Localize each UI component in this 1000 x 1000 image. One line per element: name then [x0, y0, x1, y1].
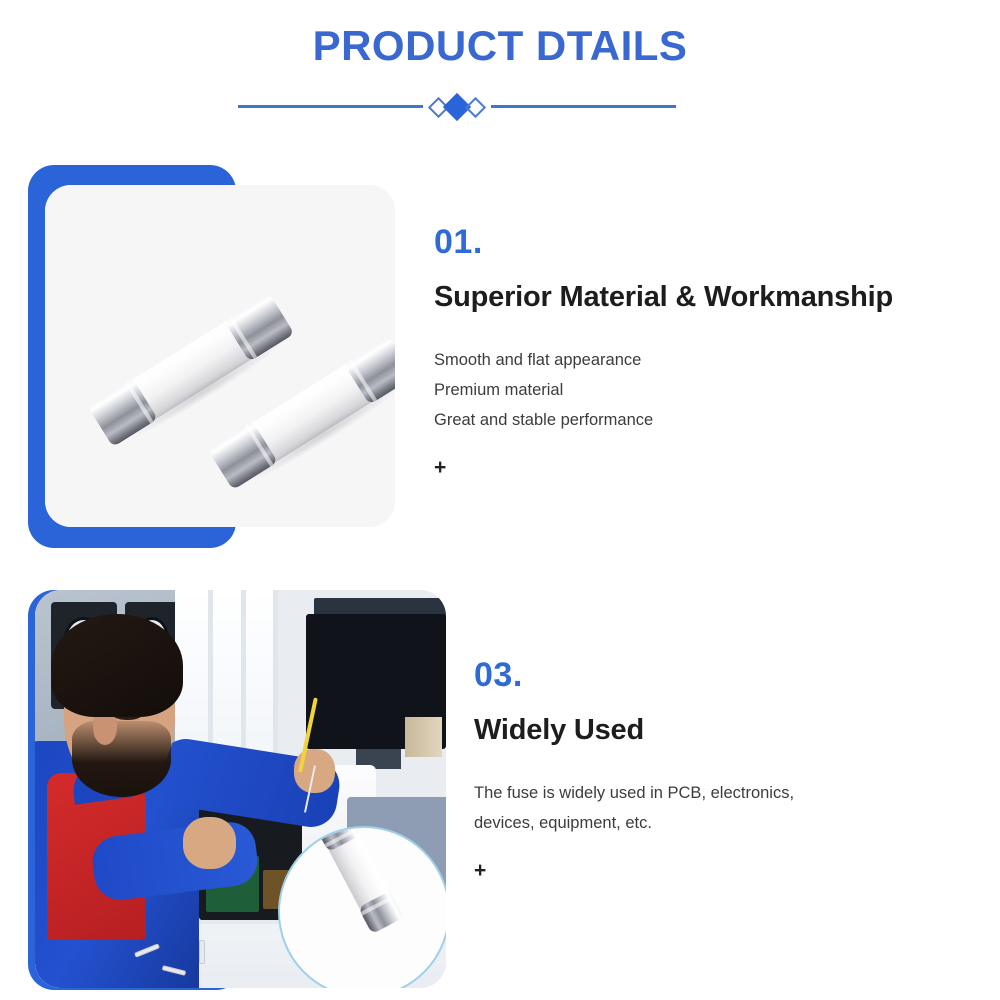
feature-1-heading: Superior Material & Workmanship	[434, 281, 974, 313]
feature-1-body-line: Great and stable performance	[434, 405, 974, 435]
feature-2-body: The fuse is widely used in PCB, electron…	[474, 778, 974, 838]
feature-block-1: 01. Superior Material & Workmanship Smoo…	[0, 155, 1000, 555]
divider-line-right	[491, 105, 676, 108]
feature-1-expand-button[interactable]: +	[434, 457, 974, 478]
feature-2-expand-button[interactable]: +	[474, 860, 974, 881]
section-divider	[238, 92, 676, 122]
page-title: PRODUCT DTAILS	[0, 22, 1000, 70]
feature-1-image	[45, 185, 395, 527]
feature-1-body: Smooth and flat appearance Premium mater…	[434, 345, 974, 435]
divider-line-left	[238, 105, 423, 108]
feature-2-number: 03.	[474, 658, 974, 692]
feature-1-text: 01. Superior Material & Workmanship Smoo…	[434, 225, 974, 478]
feature-2-media	[28, 578, 448, 1000]
feature-2-body-line: The fuse is widely used in PCB, electron…	[474, 778, 974, 808]
feature-1-body-line: Premium material	[434, 375, 974, 405]
feature-1-number: 01.	[434, 225, 974, 259]
feature-1-body-line: Smooth and flat appearance	[434, 345, 974, 375]
fuse-pair-illustration	[45, 185, 395, 527]
feature-2-body-line: devices, equipment, etc.	[474, 808, 974, 838]
product-details-page: PRODUCT DTAILS	[0, 0, 1000, 1000]
feature-1-media	[28, 165, 403, 555]
feature-block-2: 03. Widely Used The fuse is widely used …	[0, 578, 1000, 1000]
diamond-outline-right-icon	[465, 96, 486, 117]
feature-2-image	[35, 590, 446, 988]
fuse-illustration	[315, 826, 402, 933]
feature-2-heading: Widely Used	[474, 714, 974, 746]
technician-photo-illustration	[35, 590, 446, 988]
fuse-closeup-inset	[278, 826, 446, 988]
diamond-ornament-icon	[417, 92, 497, 122]
feature-2-text: 03. Widely Used The fuse is widely used …	[474, 658, 974, 881]
